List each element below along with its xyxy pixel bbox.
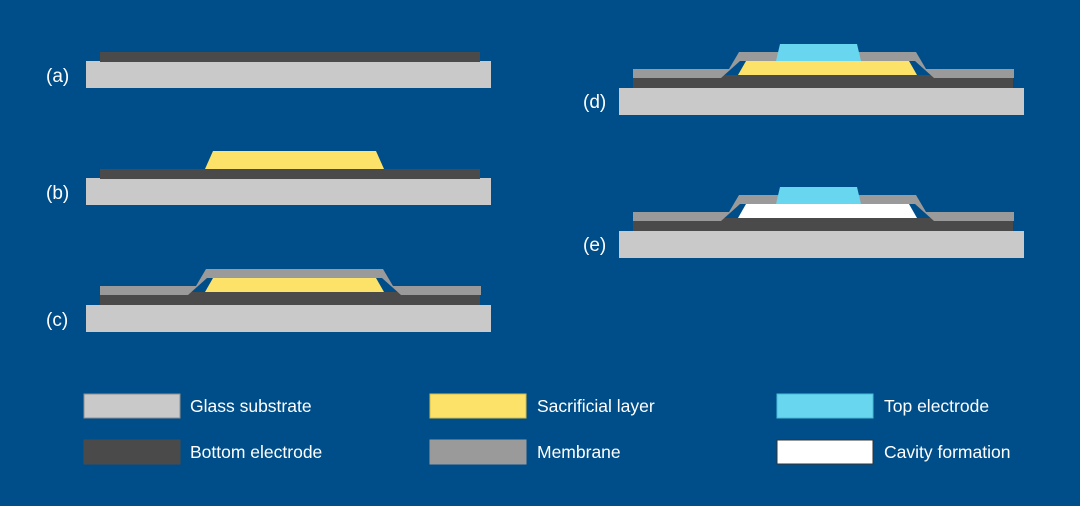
- fabrication-process-figure: (a)(b)(c)(d)(e) Glass substrateSacrifici…: [0, 0, 1080, 506]
- legend-label-cavity-formation: Cavity formation: [884, 442, 1010, 462]
- legend-item-top-electrode: Top electrode: [777, 394, 989, 418]
- glass-substrate-layer: [86, 178, 491, 205]
- sacrificial-layer: [205, 278, 384, 292]
- legend-label-top-electrode: Top electrode: [884, 396, 989, 416]
- legend-label-sacrificial-layer: Sacrificial layer: [537, 396, 655, 416]
- glass-substrate-layer: [86, 61, 491, 88]
- panel-label-d: (d): [583, 92, 606, 113]
- legend-item-glass-substrate: Glass substrate: [84, 394, 312, 418]
- legend-label-membrane: Membrane: [537, 442, 621, 462]
- bottom-electrode-layer: [100, 169, 480, 179]
- process-flow-diagram: (a)(b)(c)(d)(e) Glass substrateSacrifici…: [0, 0, 1080, 506]
- glass-substrate-layer: [86, 305, 491, 332]
- legend-item-bottom-electrode: Bottom electrode: [84, 440, 322, 464]
- legend-label-glass-substrate: Glass substrate: [190, 396, 312, 416]
- panel-label-c: (c): [46, 310, 68, 331]
- glass-substrate-layer: [619, 231, 1024, 258]
- panel-label-a: (a): [46, 66, 69, 87]
- legend-item-membrane: Membrane: [430, 440, 621, 464]
- panel-label-e: (e): [583, 235, 606, 256]
- legend-item-sacrificial-layer: Sacrificial layer: [430, 394, 655, 418]
- top-electrode-layer: [776, 187, 861, 204]
- panel-label-b: (b): [46, 183, 69, 204]
- cavity-region: [738, 204, 917, 218]
- legend-swatch-bottom-electrode: [84, 440, 180, 464]
- legend-swatch-cavity-formation: [777, 440, 873, 464]
- legend-item-cavity-formation: Cavity formation: [777, 440, 1010, 464]
- legend-label-bottom-electrode: Bottom electrode: [190, 442, 322, 462]
- glass-substrate-layer: [619, 88, 1024, 115]
- legend-swatch-glass-substrate: [84, 394, 180, 418]
- process-step-a: (a): [46, 52, 491, 88]
- sacrificial-layer: [205, 151, 384, 169]
- legend-swatch-membrane: [430, 440, 526, 464]
- legend-swatch-top-electrode: [777, 394, 873, 418]
- top-electrode-layer: [776, 44, 861, 61]
- legend-swatch-sacrificial-layer: [430, 394, 526, 418]
- sacrificial-layer: [738, 61, 917, 75]
- bottom-electrode-layer: [100, 52, 480, 62]
